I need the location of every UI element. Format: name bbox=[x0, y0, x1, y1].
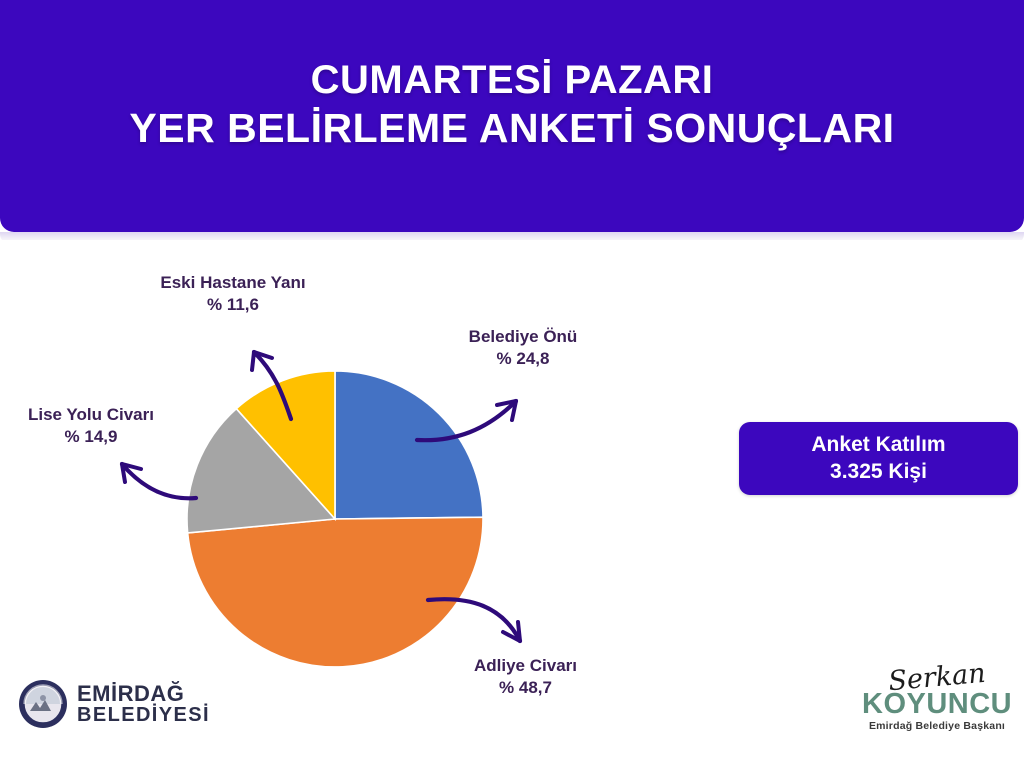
callout-adliye-civari: Adliye Civarı % 48,7 bbox=[443, 655, 608, 700]
municipality-name-line-1: EMİRDAĞ bbox=[77, 683, 210, 705]
page-title-line-1: CUMARTESİ PAZARI bbox=[311, 57, 714, 104]
callout-label: Lise Yolu Civarı bbox=[6, 404, 176, 426]
header-banner: CUMARTESİ PAZARI YER BELİRLEME ANKETİ SO… bbox=[0, 0, 1024, 232]
pie-chart-svg bbox=[185, 369, 485, 669]
municipality-logo: EMİRDAĞ BELEDİYESİ bbox=[18, 679, 210, 729]
municipal-seal-icon bbox=[18, 679, 68, 729]
callout-percent: % 11,6 bbox=[138, 294, 328, 316]
callout-belediye-onu: Belediye Önü % 24,8 bbox=[448, 326, 598, 371]
participation-label: Anket Katılım bbox=[811, 432, 945, 459]
callout-eski-hastane-yani: Eski Hastane Yanı % 11,6 bbox=[138, 272, 328, 317]
participation-value: 3.325 Kişi bbox=[830, 459, 927, 486]
callout-label: Adliye Civarı bbox=[443, 655, 608, 677]
callout-lise-yolu-civari: Lise Yolu Civarı % 14,9 bbox=[6, 404, 176, 449]
pie-chart bbox=[185, 369, 485, 669]
participation-badge: Anket Katılım 3.325 Kişi bbox=[739, 422, 1018, 495]
page-title-line-2: YER BELİRLEME ANKETİ SONUÇLARI bbox=[129, 104, 894, 152]
municipality-wordmark: EMİRDAĞ BELEDİYESİ bbox=[77, 683, 210, 726]
callout-percent: % 14,9 bbox=[6, 426, 176, 448]
pie-slice bbox=[335, 371, 483, 519]
pie-slice bbox=[188, 517, 483, 667]
callout-label: Eski Hastane Yanı bbox=[138, 272, 328, 294]
mayor-role: Emirdağ Belediye Başkanı bbox=[862, 720, 1012, 732]
callout-label: Belediye Önü bbox=[448, 326, 598, 348]
callout-percent: % 24,8 bbox=[448, 348, 598, 370]
mayor-signature: Serkan KOYUNCU Emirdağ Belediye Başkanı bbox=[862, 664, 1012, 732]
municipality-name-line-2: BELEDİYESİ bbox=[77, 705, 210, 725]
callout-percent: % 48,7 bbox=[443, 677, 608, 699]
